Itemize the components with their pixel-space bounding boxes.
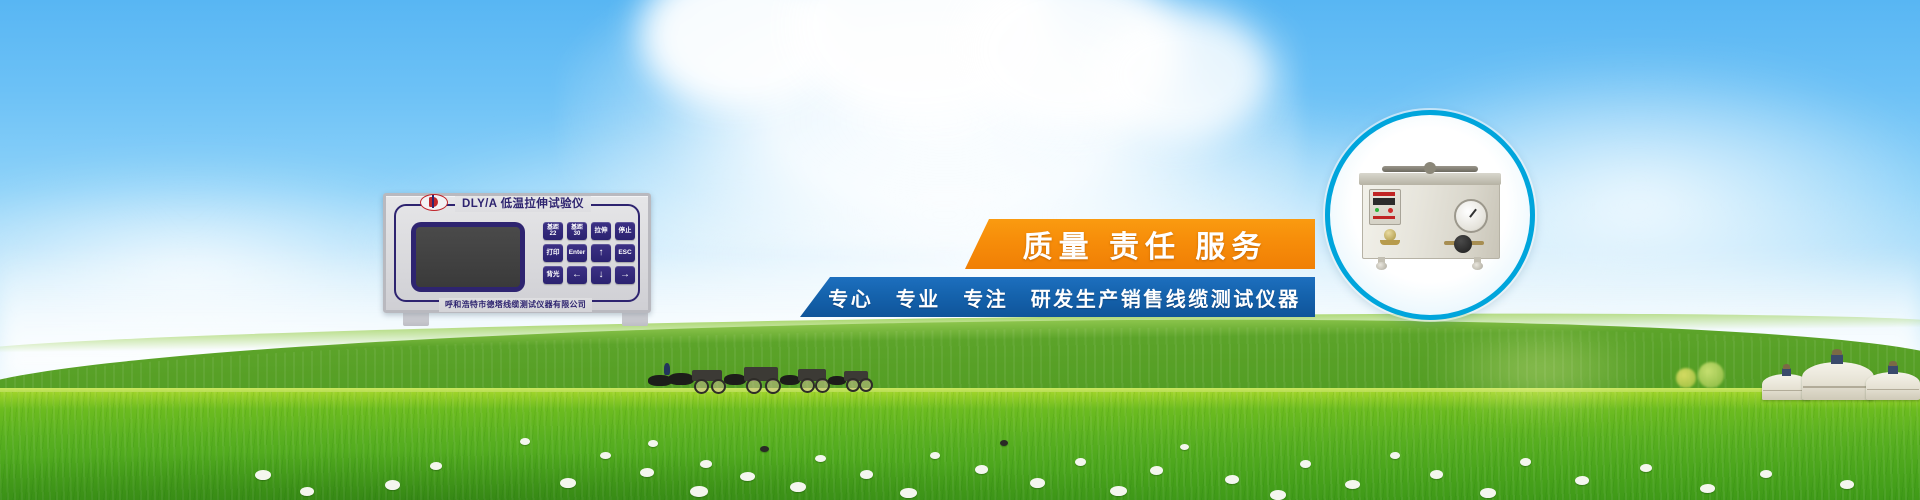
sheep (1180, 444, 1189, 450)
instrument-model-title: DLY/A 低温拉伸试验仪 (455, 196, 591, 212)
secondary-slogan-banner: 专心 专业 专注 研发生产销售线缆测试仪器 (800, 277, 1315, 317)
key-arrow-down[interactable]: ↓ (591, 266, 611, 284)
tensile-tester-instrument[interactable]: DLY/A 低温拉伸试验仪 基距22 基距30 拉伸 停止 打印 Enter ↑… (383, 193, 651, 313)
field-shadow (0, 430, 1920, 500)
sheep (1760, 470, 1772, 478)
sheep (520, 438, 530, 445)
key-backlight[interactable]: 背光 (543, 266, 563, 284)
pressure-gauge (1454, 199, 1488, 233)
instrument-keypad[interactable]: 基距22 基距30 拉伸 停止 打印 Enter ↑ ESC 背光 ← ↓ → (543, 222, 635, 284)
key-stretch[interactable]: 拉伸 (591, 222, 611, 240)
sheep (860, 470, 873, 479)
sheep (1345, 480, 1360, 489)
instrument-display-screen[interactable] (411, 222, 525, 292)
ox-cart-caravan (648, 357, 878, 397)
sheep (930, 452, 940, 459)
chamber-caster (1376, 257, 1387, 270)
sheep (1430, 470, 1443, 479)
manufacturer-name: 呼和浩特市德塔线缆测试仪器有限公司 (439, 298, 592, 312)
chamber-caster (1472, 257, 1483, 270)
key-gauge-30[interactable]: 基距30 (567, 222, 587, 240)
chamber-lid (1359, 173, 1501, 185)
sheep (1520, 458, 1531, 466)
chamber-valve-knob (1454, 235, 1472, 253)
sheep (560, 478, 576, 488)
sheep (1300, 460, 1311, 468)
cloud-main-mass (560, 0, 1300, 250)
key-arrow-left[interactable]: ← (567, 266, 587, 284)
sheep (1700, 484, 1715, 493)
sheep (648, 440, 658, 447)
chamber-handle-knob (1424, 162, 1436, 174)
mongolian-yurts (1762, 352, 1920, 400)
product-photo-badge[interactable] (1325, 110, 1535, 320)
chamber-emblem-ribbon (1380, 240, 1400, 245)
sheep (1150, 466, 1163, 475)
sheep (760, 446, 769, 452)
sheep (790, 482, 806, 492)
key-print[interactable]: 打印 (543, 244, 563, 262)
sheep (640, 468, 654, 477)
sheep (600, 452, 611, 459)
key-arrow-right[interactable]: → (615, 266, 635, 284)
key-escape[interactable]: ESC (615, 244, 635, 262)
key-enter[interactable]: Enter (567, 244, 587, 262)
primary-slogan-text: 质量 责任 服务 (1013, 222, 1268, 266)
sheep (690, 486, 708, 497)
sheep (1480, 488, 1496, 498)
promotional-banner: DLY/A 低温拉伸试验仪 基距22 基距30 拉伸 停止 打印 Enter ↑… (0, 0, 1920, 500)
key-stop[interactable]: 停止 (615, 222, 635, 240)
sheep (1640, 464, 1652, 472)
sheep (1075, 458, 1086, 466)
steam-aging-test-chamber (1362, 167, 1498, 265)
sheep (430, 462, 442, 470)
secondary-slogan-text: 专心 专业 专注 研发生产销售线缆测试仪器 (814, 283, 1301, 312)
key-gauge-22[interactable]: 基距22 (543, 222, 563, 240)
sheep (300, 487, 314, 496)
sheep (1110, 486, 1127, 496)
sun-glow (1380, 300, 1700, 440)
primary-slogan-banner: 质量 责任 服务 (965, 219, 1315, 269)
sheep (1575, 476, 1589, 485)
sheep (1840, 480, 1854, 489)
brand-logo-icon (420, 194, 448, 211)
sheep (815, 455, 826, 462)
sheep (1270, 490, 1286, 500)
sheep (1000, 440, 1008, 446)
sheep (740, 472, 755, 481)
bush (1698, 362, 1724, 388)
sheep (1225, 475, 1239, 484)
sheep (900, 488, 917, 498)
key-arrow-up[interactable]: ↑ (591, 244, 611, 262)
sheep (1030, 478, 1045, 488)
sheep (700, 460, 712, 468)
instrument-foot-left (403, 313, 429, 326)
chamber-control-panel (1369, 189, 1401, 225)
instrument-foot-right (622, 313, 648, 326)
sheep (255, 470, 271, 480)
display-surface (416, 227, 520, 287)
sheep (975, 465, 988, 474)
sheep (385, 480, 400, 490)
sheep (1390, 452, 1400, 459)
